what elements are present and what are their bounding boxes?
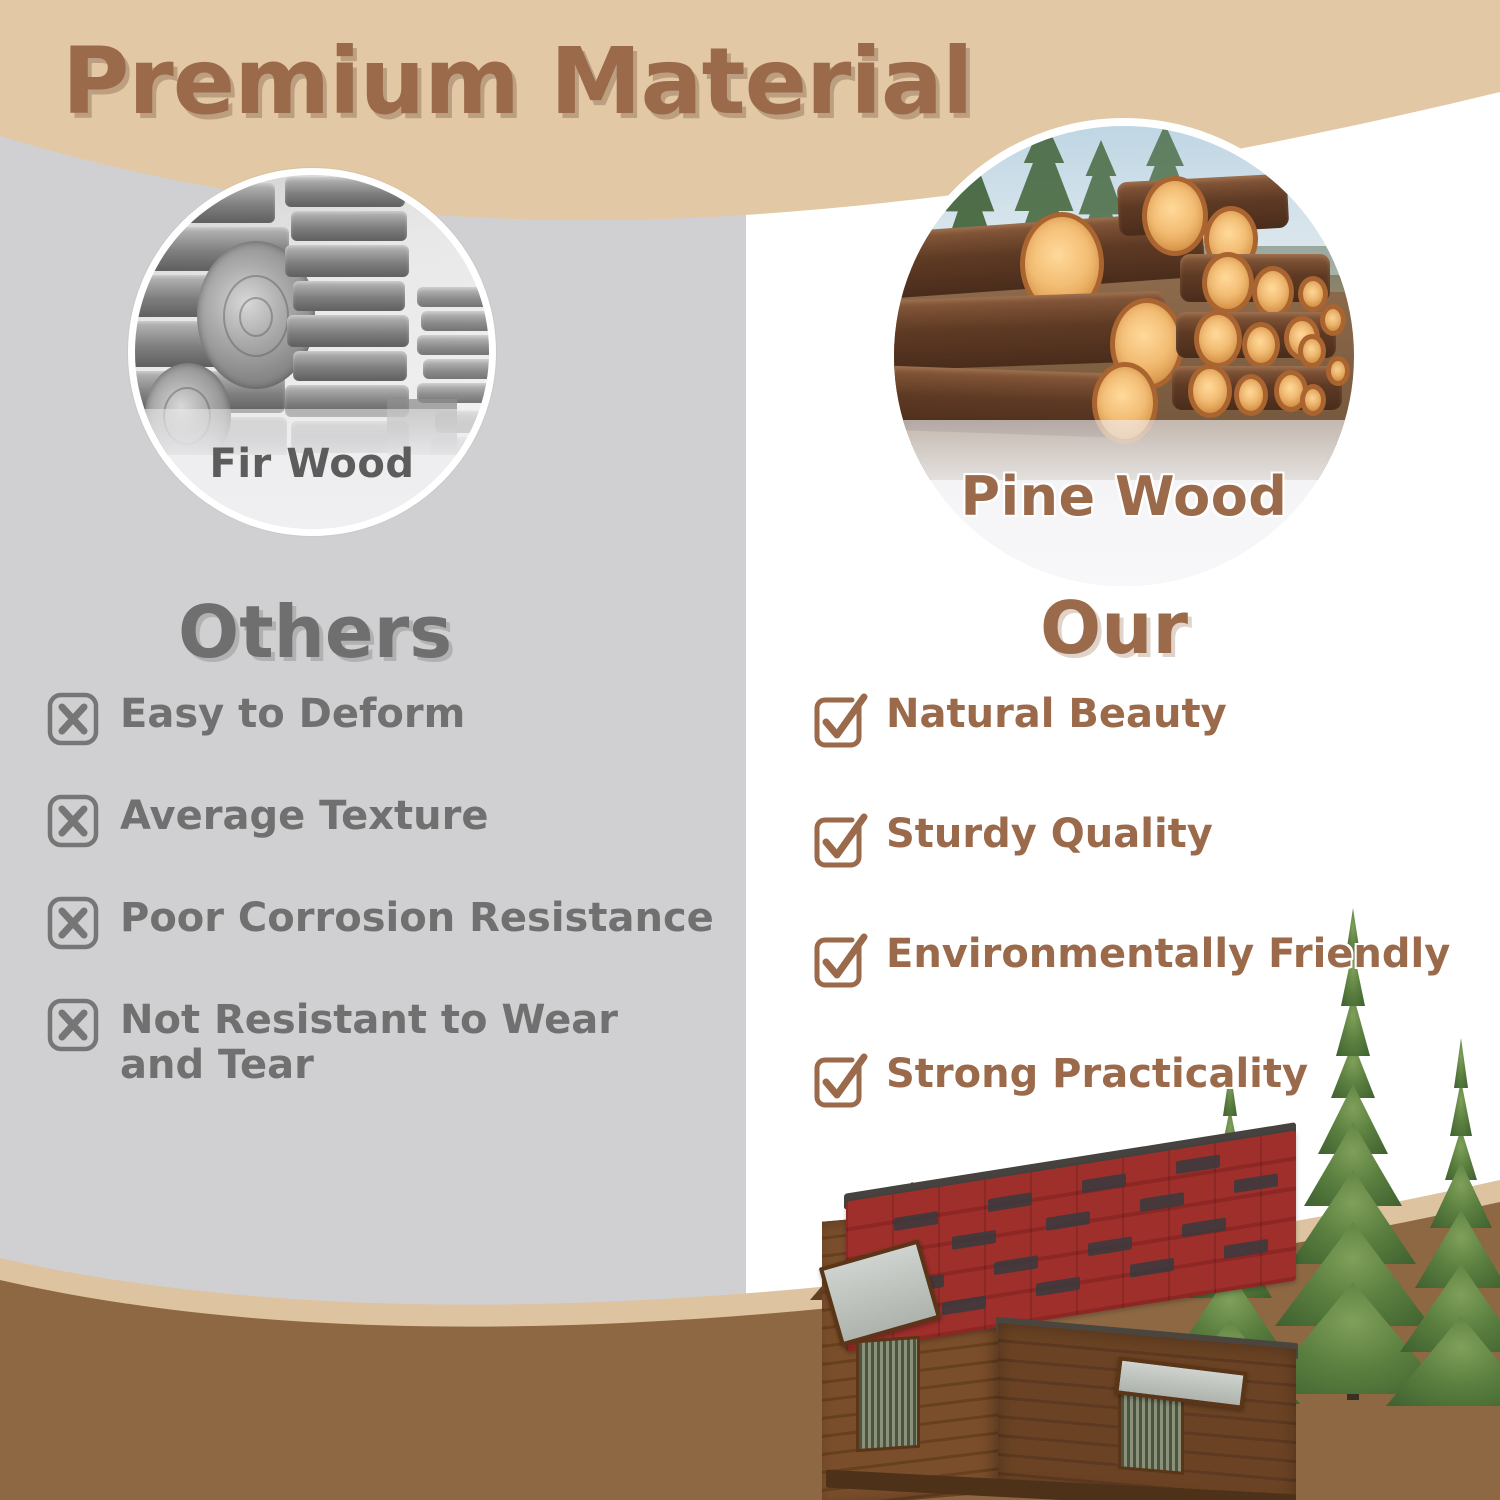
list-item-label: Natural Beauty	[886, 690, 1227, 737]
infographic-canvas: Premium Material	[0, 0, 1500, 1500]
list-item: Strong Practicality	[812, 1050, 1500, 1108]
x-mark-checkbox-icon	[46, 894, 100, 952]
feature-list-our: Natural Beauty Sturdy Quality Environmen…	[812, 690, 1500, 1170]
list-item-label: Poor Corrosion Resistance	[120, 894, 714, 941]
list-item-label: Not Resistant to Wear and Tear	[120, 996, 680, 1088]
badge-label-pine: Pine Wood	[894, 465, 1354, 528]
page-title: Premium Material	[62, 28, 973, 135]
list-item: Average Texture	[46, 792, 746, 850]
x-mark-checkbox-icon	[46, 690, 100, 748]
x-mark-checkbox-icon	[46, 792, 100, 850]
checkmark-checkbox-icon	[812, 1050, 866, 1108]
list-item: Sturdy Quality	[812, 810, 1500, 868]
list-item-label: Strong Practicality	[886, 1050, 1308, 1097]
list-item: Environmentally Friendly	[812, 930, 1500, 988]
heading-our: Our	[1040, 586, 1188, 670]
list-item-label: Sturdy Quality	[886, 810, 1213, 857]
list-item: Easy to Deform	[46, 690, 746, 748]
heading-others: Others	[178, 590, 452, 674]
checkmark-checkbox-icon	[812, 810, 866, 868]
list-item-label: Easy to Deform	[120, 690, 465, 737]
badge-label-fir: Fir Wood	[135, 441, 489, 487]
badge-pine-wood: Pine Wood	[886, 118, 1362, 594]
dog-house-side-mesh-panel	[856, 1336, 920, 1452]
list-item: Natural Beauty	[812, 690, 1500, 748]
list-item: Not Resistant to Wear and Tear	[46, 996, 746, 1088]
feature-list-others: Easy to Deform Average Texture Poor Corr…	[46, 690, 746, 1132]
x-mark-checkbox-icon	[46, 996, 100, 1054]
badge-fir-wood: Fir Wood	[128, 168, 496, 536]
list-item-label: Environmentally Friendly	[886, 930, 1450, 977]
list-item-label: Average Texture	[120, 792, 489, 839]
checkmark-checkbox-icon	[812, 690, 866, 748]
checkmark-checkbox-icon	[812, 930, 866, 988]
wooden-dog-house-with-red-shingle-roof-photo	[786, 1152, 1316, 1500]
list-item: Poor Corrosion Resistance	[46, 894, 746, 952]
